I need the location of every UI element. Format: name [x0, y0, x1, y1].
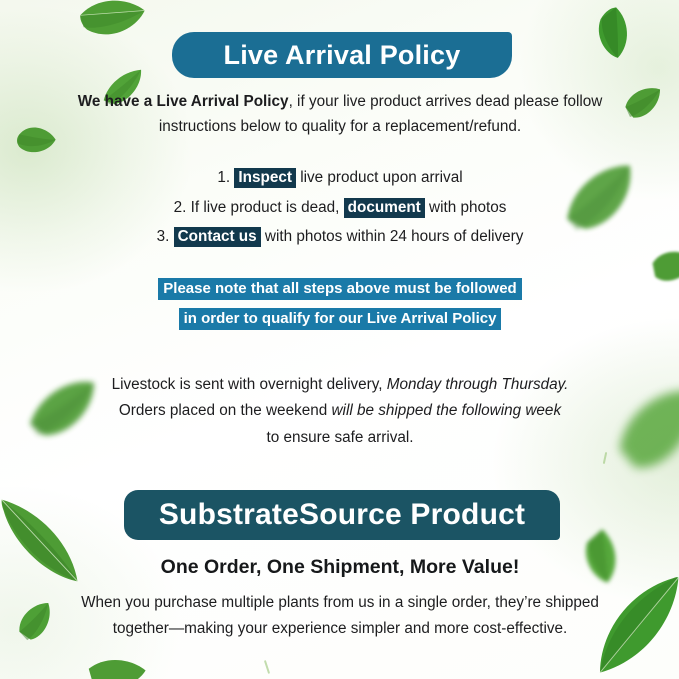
step-number: 2.	[174, 199, 187, 216]
note-line-1: Please note that all steps above must be…	[158, 278, 521, 300]
list-item: 3. Contact us with photos within 24 hour…	[56, 222, 624, 252]
live-arrival-policy-banner: Live Arrival Policy	[172, 32, 512, 78]
content-layer: Live Arrival Policy We have a Live Arriv…	[0, 0, 679, 679]
live-arrival-policy-title: Live Arrival Policy	[224, 40, 461, 71]
substrate-source-product-banner: SubstrateSource Product	[124, 490, 560, 540]
shipping-line-1: Livestock is sent with overnight deliver…	[112, 376, 383, 393]
note-line-2: in order to qualify for our Live Arrival…	[179, 308, 502, 330]
substrate-description-paragraph: When you purchase multiple plants from u…	[56, 590, 624, 643]
live-arrival-policy-infographic: Live Arrival Policy We have a Live Arriv…	[0, 0, 679, 679]
step-highlight: Inspect	[234, 168, 296, 188]
step-highlight: Contact us	[174, 227, 261, 247]
step-highlight: document	[344, 198, 425, 218]
substrate-source-product-title: SubstrateSource Product	[159, 498, 525, 532]
policy-steps-list: 1. Inspect live product upon arrival 2. …	[56, 163, 624, 252]
step-text-pre: If live product is dead,	[191, 199, 340, 216]
step-text: with photos within 24 hours of delivery	[265, 228, 524, 245]
shipping-schedule-paragraph: Livestock is sent with overnight deliver…	[56, 372, 624, 451]
step-number: 1.	[217, 169, 230, 186]
closing-line-2: together—making your experience simpler …	[113, 620, 568, 637]
list-item: 2. If live product is dead, document wit…	[56, 193, 624, 223]
closing-line-1: When you purchase multiple plants from u…	[81, 594, 599, 611]
step-number: 3.	[157, 228, 170, 245]
substrate-tagline: One Order, One Shipment, More Value!	[56, 556, 624, 579]
step-text: with photos	[429, 199, 506, 216]
policy-note-block: Please note that all steps above must be…	[56, 274, 624, 334]
intro-paragraph: We have a Live Arrival Policy, if your l…	[56, 90, 624, 140]
shipping-line-1-italic: Monday through Thursday.	[387, 376, 569, 393]
intro-line-2: instructions below to quality for a repl…	[159, 118, 521, 135]
intro-rest-text: , if your live product arrives dead plea…	[289, 93, 603, 110]
shipping-line-2: Orders placed on the weekend	[119, 402, 327, 419]
list-item: 1. Inspect live product upon arrival	[56, 163, 624, 193]
shipping-line-2-italic: will be shipped the following week	[332, 402, 562, 419]
step-text: live product upon arrival	[300, 169, 462, 186]
intro-bold-text: We have a Live Arrival Policy	[78, 93, 289, 110]
shipping-line-3: to ensure safe arrival.	[266, 429, 413, 446]
